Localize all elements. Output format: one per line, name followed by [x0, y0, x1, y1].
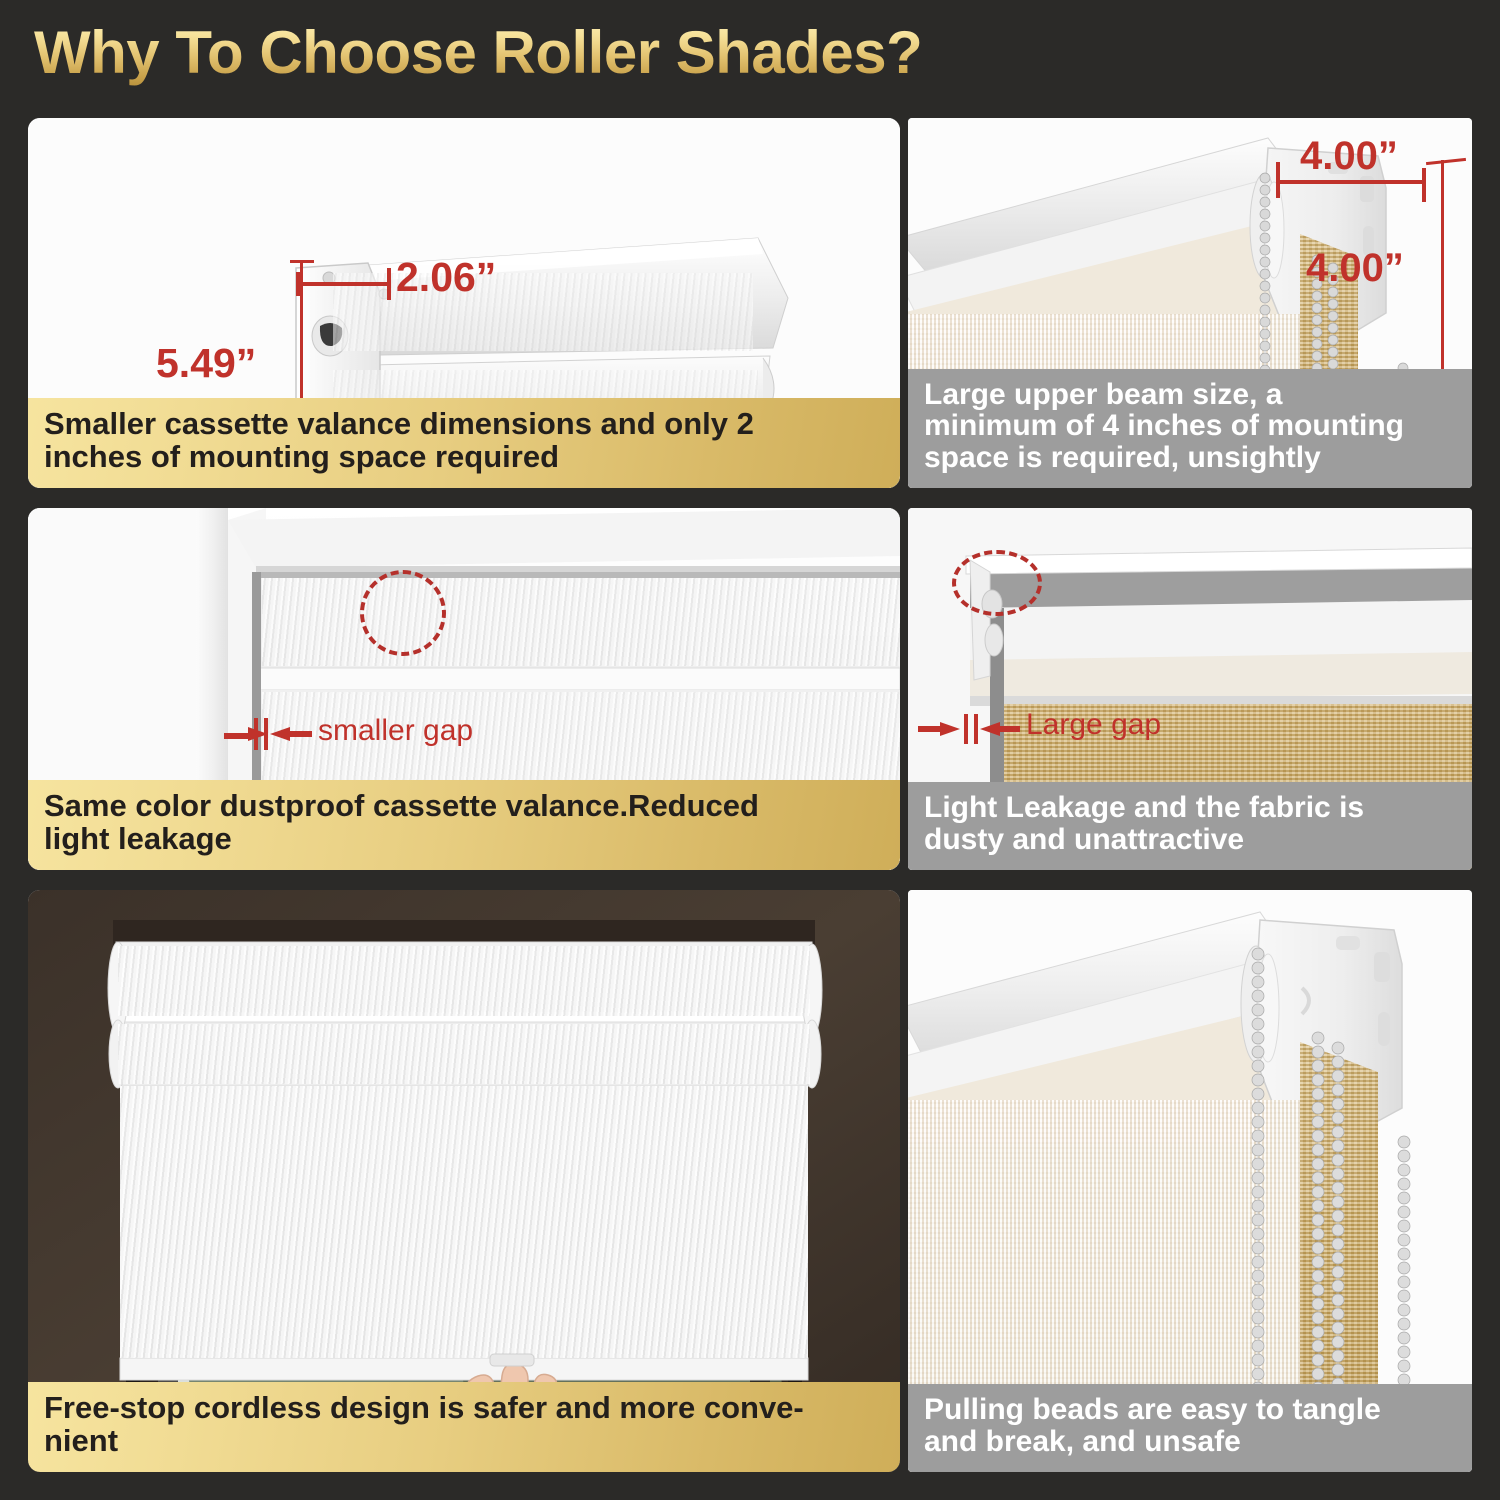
caption-line: Pulling beads are easy to tangle [924, 1394, 1456, 1426]
caption-line: Same color dustproof cassette valance.Re… [44, 790, 884, 823]
caption-line: Free-stop cordless design is safer and m… [44, 1392, 884, 1425]
gap-label: Large gap [1026, 708, 1161, 742]
caption-line: space is required, unsightly [924, 442, 1456, 474]
panel-top-right-caption: Large upper beam size, a minimum of 4 in… [908, 369, 1472, 488]
panel-mid-left-caption: Same color dustproof cassette valance.Re… [28, 780, 900, 870]
caption-line: Smaller cassette valance dimensions and … [44, 408, 884, 441]
width-dimension-tick-left [1276, 162, 1280, 198]
panel-bottom-right: Pulling beads are easy to tangle and bre… [908, 890, 1472, 1472]
panel-mid-left: smaller gap Same color dustproof cassett… [28, 508, 900, 870]
caption-line: Light Leakage and the fabric is [924, 792, 1456, 824]
height-dimension-line [1441, 160, 1444, 376]
panel-mid-right-caption: Light Leakage and the fabric is dusty an… [908, 782, 1472, 870]
panel-top-left: 2.06” 5.49” Smaller cassette valance dim… [28, 118, 900, 488]
caption-line: minimum of 4 inches of mounting [924, 410, 1456, 442]
panel-bottom-left-caption: Free-stop cordless design is safer and m… [28, 1382, 900, 1472]
width-dimension-label: 4.00” [1300, 134, 1398, 179]
caption-line: dusty and unattractive [924, 824, 1456, 856]
panel-top-left-caption: Smaller cassette valance dimensions and … [28, 398, 900, 488]
caption-line: Large upper beam size, a [924, 379, 1456, 411]
width-dimension-label: 2.06” [396, 254, 496, 301]
width-dimension-tick-right [387, 268, 391, 300]
panel-mid-right: Large gap Light Leakage and the fabric i… [908, 508, 1472, 870]
caption-line: light leakage [44, 823, 884, 856]
width-dimension-line [296, 282, 391, 286]
caption-line: inches of mounting space required [44, 441, 884, 474]
page-title: Why To Choose Roller Shades? [34, 18, 922, 87]
gap-label: smaller gap [318, 714, 473, 748]
height-dimension-label: 5.49” [156, 340, 256, 387]
height-dimension-label: 4.00” [1306, 246, 1404, 291]
width-dimension-tick-right [1422, 168, 1426, 202]
height-dimension-tick-top [290, 260, 314, 263]
infographic-root: Why To Choose Roller Shades? [0, 0, 1500, 1500]
caption-line: nient [44, 1425, 884, 1458]
panel-bottom-left: Free-stop cordless design is safer and m… [28, 890, 900, 1472]
panel-bottom-right-caption: Pulling beads are easy to tangle and bre… [908, 1384, 1472, 1472]
caption-line: and break, and unsafe [924, 1426, 1456, 1458]
panel-top-right: 4.00” 4.00” Large upper beam size, a min… [908, 118, 1472, 488]
width-dimension-line [1276, 180, 1426, 184]
